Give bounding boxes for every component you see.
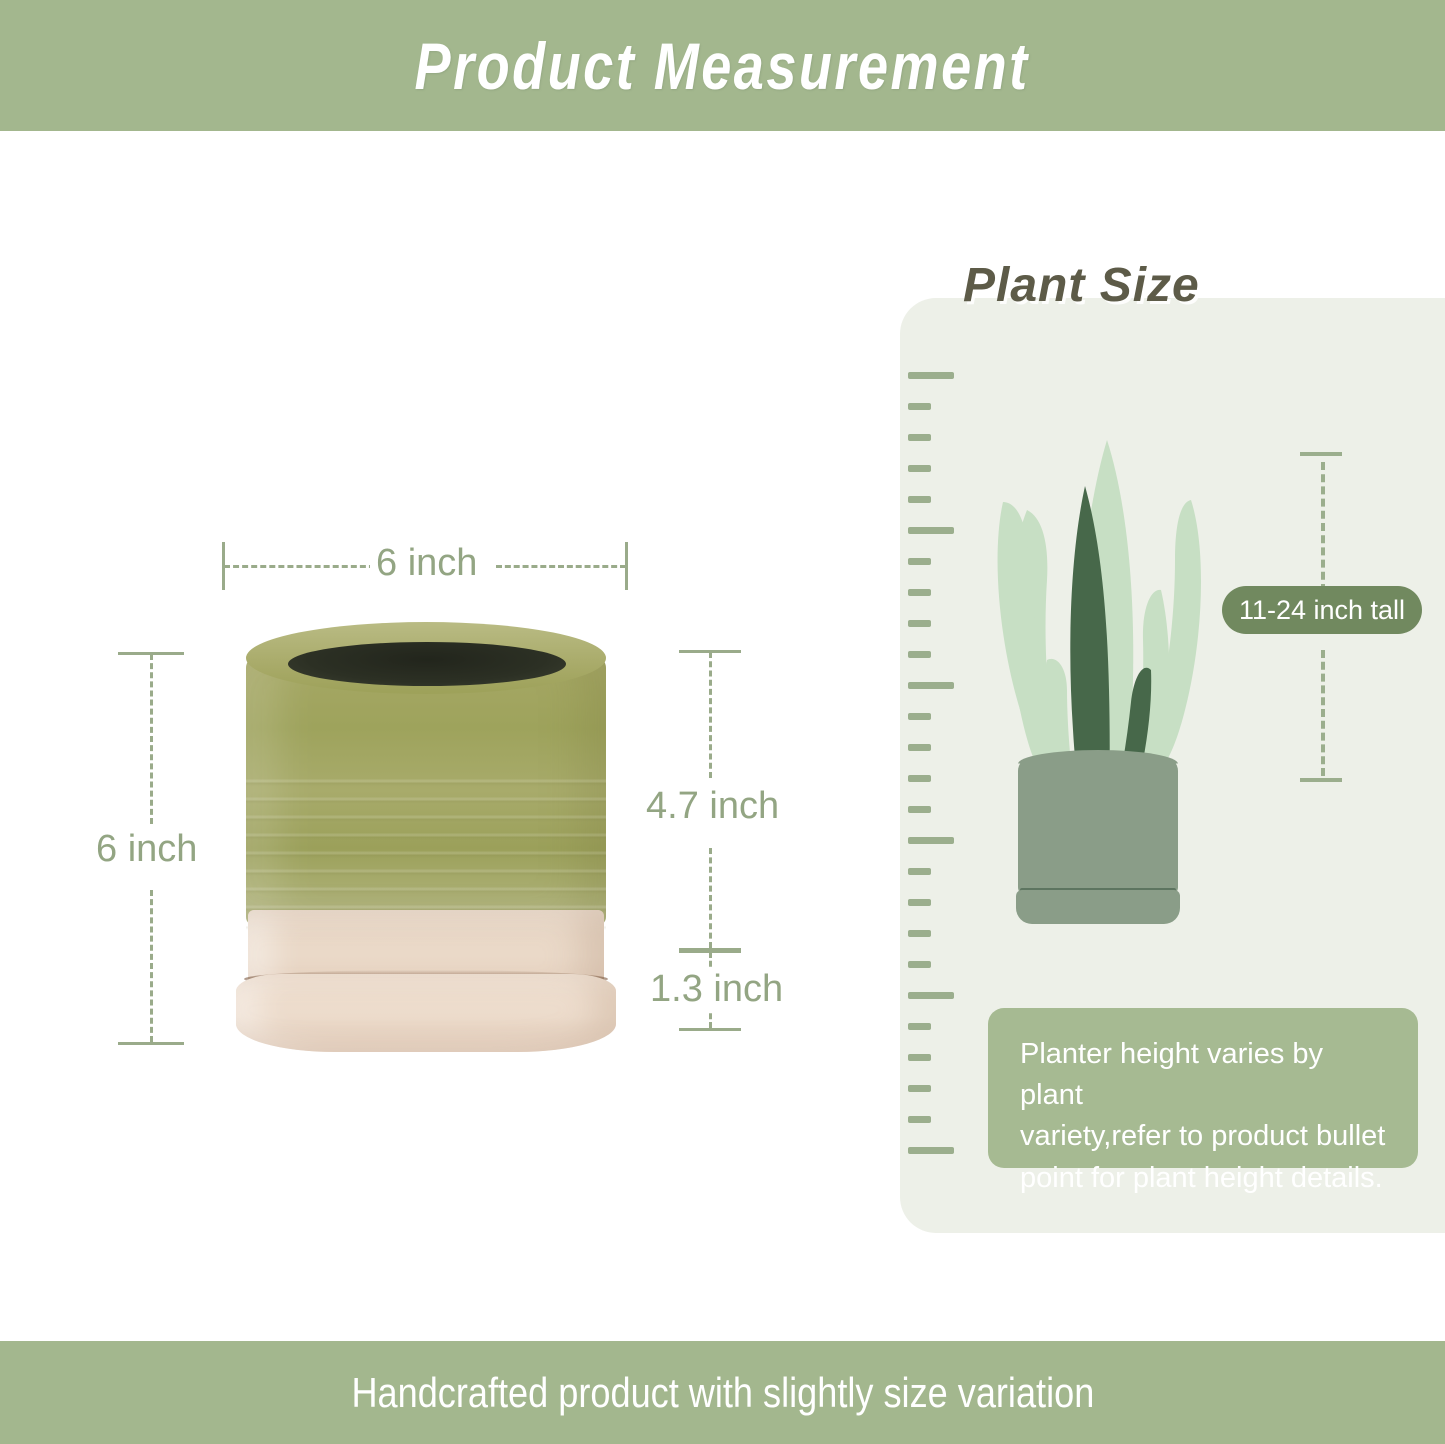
ruler-tick-minor [908, 589, 931, 596]
footer-note: Handcrafted product with slightly size v… [351, 1369, 1094, 1417]
product-photo [228, 618, 624, 1058]
saucer-height-dimension-cap-bottom [679, 1028, 741, 1031]
ruler-tick-minor [908, 434, 931, 441]
plant-height-badge: 11-24 inch tall [1222, 586, 1422, 634]
plant-pot-saucer [1016, 890, 1180, 924]
ruler-tick-major [908, 682, 954, 689]
ruler-tick-major [908, 1147, 954, 1154]
ruler-tick-minor [908, 868, 931, 875]
ruler-tick-minor [908, 651, 931, 658]
footer-banner: Handcrafted product with slightly size v… [0, 1341, 1445, 1444]
width-dimension-line-left [224, 565, 384, 568]
ruler-tick-minor [908, 403, 931, 410]
ruler-tick-minor [908, 899, 931, 906]
ruler-tick-minor [908, 775, 931, 782]
plant-height-cap-top [1300, 452, 1342, 456]
ruler-tick-minor [908, 1023, 931, 1030]
ruler-tick-minor [908, 465, 931, 472]
plant-pot [1018, 757, 1178, 897]
plant-height-cap-bottom [1300, 778, 1342, 782]
planter-saucer [236, 974, 616, 1052]
page-title: Product Measurement [415, 28, 1030, 104]
note-line-3: point for plant height details. [1020, 1158, 1386, 1199]
ruler-tick-minor [908, 744, 931, 751]
height-dimension-line-top [150, 654, 153, 824]
height-dimension-label: 6 inch [90, 828, 203, 871]
ruler-tick-minor [908, 558, 931, 565]
ruler-tick-minor [908, 806, 931, 813]
pot-height-dimension-line-top [709, 652, 712, 778]
ruler-tick-minor [908, 961, 931, 968]
note-line-2: variety,refer to product bullet [1020, 1116, 1386, 1157]
ruler-tick-major [908, 372, 954, 379]
height-dimension-line-bottom [150, 890, 153, 1042]
plant-height-note: Planter height varies by plant variety,r… [988, 1008, 1418, 1168]
plant-height-badge-label: 11-24 inch tall [1239, 595, 1405, 626]
note-line-1: Planter height varies by plant [1020, 1034, 1386, 1116]
width-dimension-line-right [496, 565, 626, 568]
vertical-ruler [908, 370, 968, 1170]
pot-height-dimension-line-bottom [709, 848, 712, 948]
plant-size-title: Plant Size [963, 258, 1200, 313]
ruler-tick-minor [908, 713, 931, 720]
ruler-tick-major [908, 837, 954, 844]
planter-interior-opening [288, 642, 566, 686]
header-banner: Product Measurement [0, 0, 1445, 131]
saucer-height-dimension-label: 1.3 inch [644, 968, 789, 1011]
ruler-tick-minor [908, 1116, 931, 1123]
plant-height-line-bottom [1321, 650, 1325, 776]
pot-height-dimension-label: 4.7 inch [640, 785, 785, 828]
ruler-tick-minor [908, 930, 931, 937]
ruler-tick-minor [908, 620, 931, 627]
ruler-tick-major [908, 527, 954, 534]
width-dimension-label: 6 inch [370, 542, 483, 585]
plant-height-line-top [1321, 462, 1325, 592]
height-dimension-cap-bottom [118, 1042, 184, 1045]
ruler-tick-minor [908, 496, 931, 503]
ruler-tick-minor [908, 1085, 931, 1092]
ruler-tick-major [908, 992, 954, 999]
ruler-tick-minor [908, 1054, 931, 1061]
